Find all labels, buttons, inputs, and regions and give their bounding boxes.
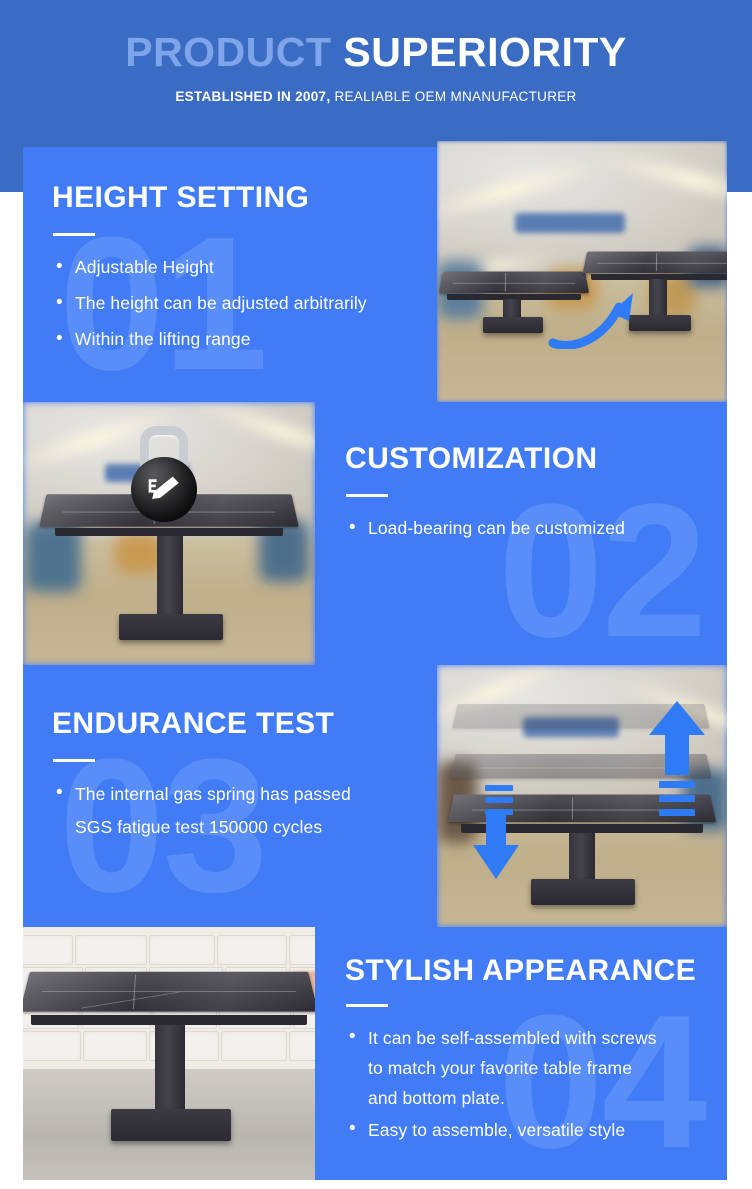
section-title-03: ENDURANCE TEST: [52, 708, 334, 740]
section-title-02: CUSTOMIZATION: [345, 443, 597, 475]
bullet-item-continuation: SGS fatigue test 150000 cycles: [53, 811, 433, 843]
bullet-item: It can be self-assembled with screws: [346, 1023, 716, 1053]
section-image-03: [437, 665, 727, 927]
subtitle-regular: REALIABLE OEM MNANUFACTURER: [334, 89, 576, 104]
bullet-item: The internal gas spring has passed: [53, 778, 433, 810]
kettlebell-weight-icon: [127, 426, 201, 522]
bullet-item: Load-bearing can be customized: [346, 516, 706, 541]
section-title-04: STYLISH APPEARANCE: [345, 955, 696, 987]
table-assembled: [25, 965, 313, 1155]
section-image-04: [23, 927, 315, 1180]
section-rule-03: [53, 759, 95, 762]
section-bullets-02: Load-bearing can be customized: [346, 516, 706, 552]
bullet-item: Easy to assemble, versatile style: [346, 1115, 716, 1145]
page-title-light: PRODUCT: [125, 29, 331, 75]
section-image-01: [437, 141, 727, 402]
bullet-item: Adjustable Height: [53, 255, 428, 280]
section-rule-02: [346, 494, 388, 497]
infographic-page: PRODUCT SUPERIORITY ESTABLISHED IN 2007,…: [0, 0, 752, 1189]
pencil-edit-icon: [146, 470, 182, 505]
section-bullets-03: The internal gas spring has passed SGS f…: [53, 778, 433, 854]
page-title: PRODUCT SUPERIORITY: [0, 32, 752, 73]
bullet-item: Within the lifting range: [53, 327, 428, 352]
subtitle-bold: ESTABLISHED IN 2007,: [175, 89, 330, 104]
bullet-item-continuation: to match your favorite table frame: [346, 1053, 716, 1083]
height-change-arrow-icon: [547, 291, 647, 349]
arrow-up-icon: [649, 701, 705, 775]
page-subtitle: ESTABLISHED IN 2007, REALIABLE OEM MNANU…: [0, 89, 752, 104]
bullet-item-continuation: and bottom plate.: [346, 1083, 716, 1113]
section-bullets-01: Adjustable Height The height can be adju…: [53, 255, 428, 363]
section-rule-04: [346, 1004, 388, 1007]
section-title-01: HEIGHT SETTING: [52, 182, 309, 214]
bullet-item: The height can be adjusted arbitrarily: [53, 291, 428, 316]
section-rule-01: [53, 233, 95, 236]
page-title-white: SUPERIORITY: [343, 29, 626, 75]
section-image-02: [23, 402, 315, 665]
section-bullets-04: It can be self-assembled with screws to …: [346, 1023, 716, 1145]
arrow-down-icon: [473, 813, 519, 879]
